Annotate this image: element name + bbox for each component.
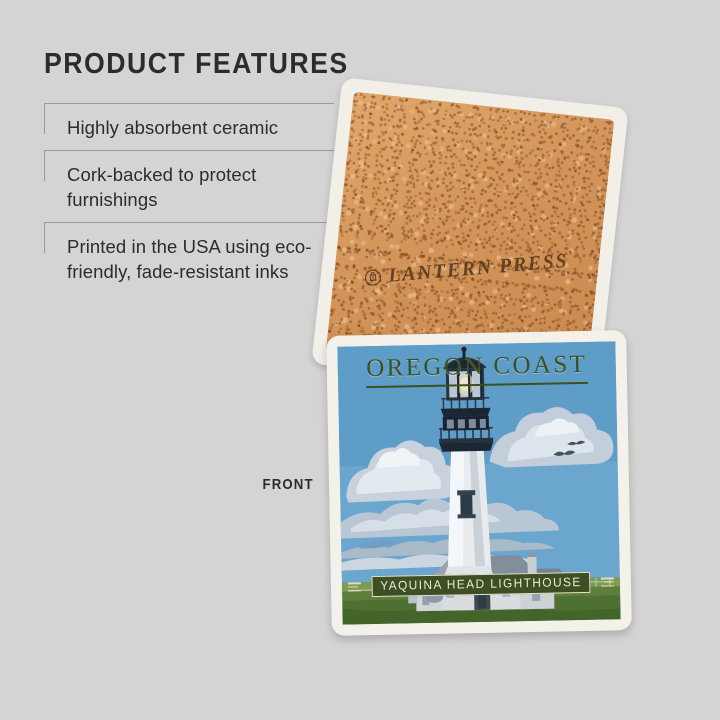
feature-text: Printed in the USA using eco-friendly, f…	[67, 234, 334, 284]
list-item: Cork-backed to protect furnishings	[44, 150, 334, 222]
poster-artwork: OREGON COAST YAQUINA HEAD LIGHTHOUSE	[337, 341, 620, 624]
poster-title-block: OREGON COAST	[338, 350, 617, 388]
feature-text: Highly absorbent ceramic	[67, 115, 334, 140]
poster-title: OREGON COAST	[338, 350, 616, 383]
list-item: Highly absorbent ceramic	[44, 103, 334, 150]
brand-stamp: LANTERN PRESS	[364, 250, 570, 290]
brand-name: LANTERN PRESS	[387, 250, 569, 288]
poster-caption: YAQUINA HEAD LIGHTHOUSE	[371, 572, 590, 597]
caption-rule-right	[601, 577, 614, 586]
page-title: PRODUCT FEATURES	[44, 48, 311, 81]
caption-rule-left	[348, 582, 361, 591]
lantern-icon	[364, 269, 382, 287]
list-item: Printed in the USA using eco-friendly, f…	[44, 222, 334, 294]
feature-text: Cork-backed to protect furnishings	[67, 162, 334, 212]
product-features-panel: PRODUCT FEATURES Highly absorbent cerami…	[44, 48, 334, 294]
coaster-front-view: OREGON COAST YAQUINA HEAD LIGHTHOUSE	[326, 330, 632, 636]
front-label: FRONT	[262, 476, 313, 493]
